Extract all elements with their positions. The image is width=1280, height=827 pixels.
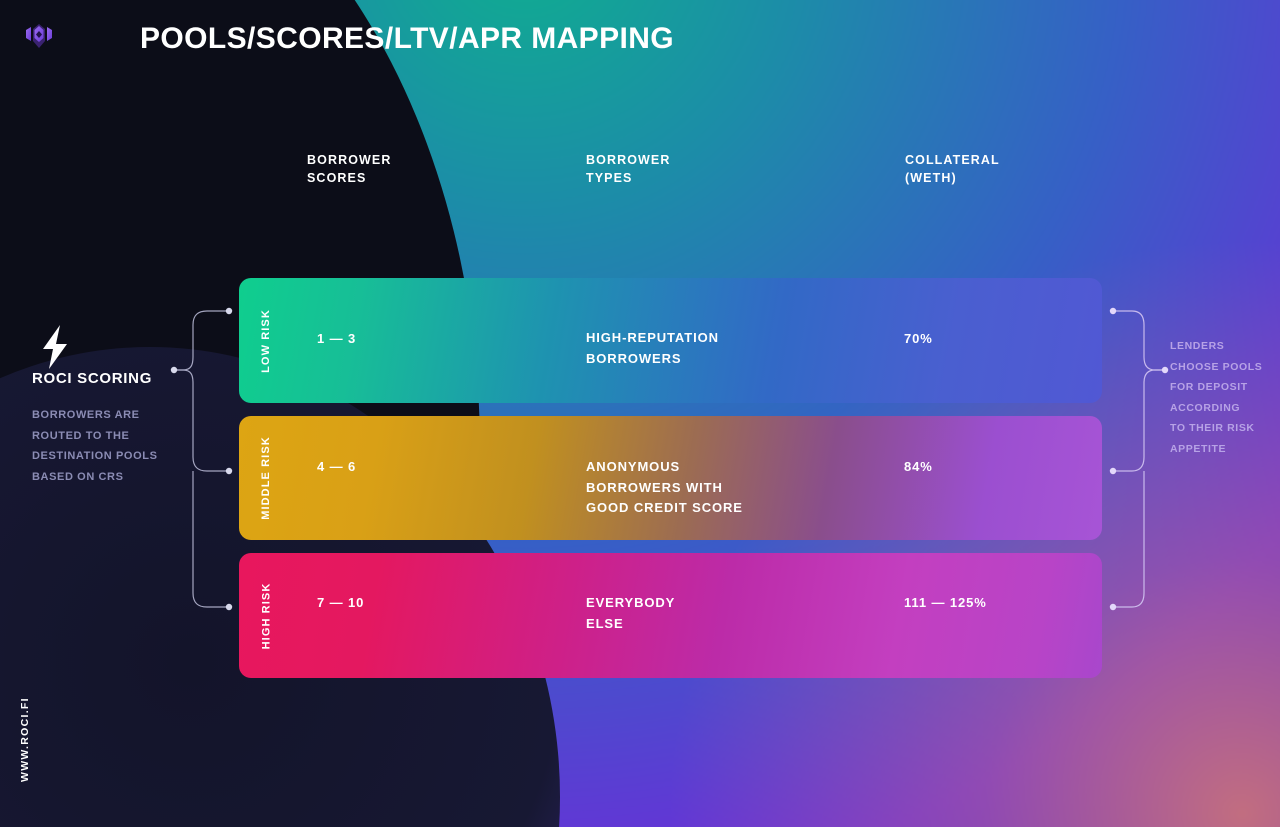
cell-collateral: 84% — [904, 457, 933, 478]
cell-borrower-types: HIGH-REPUTATION BORROWERS — [586, 328, 719, 369]
connector-right-bracket — [1100, 295, 1180, 635]
column-header-collateral: COLLATERAL (WETH) — [905, 151, 1000, 187]
cell-borrower-scores: 4 — 6 — [317, 457, 356, 478]
risk-tier-label-text: LOW RISK — [260, 309, 272, 373]
cell-borrower-scores: 1 — 3 — [317, 329, 356, 350]
lightning-bolt-icon — [40, 325, 70, 369]
roci-scoring-title: ROCI SCORING — [32, 370, 152, 387]
table-row[interactable]: MIDDLE RISK 4 — 6 ANONYMOUS BORROWERS WI… — [239, 416, 1102, 540]
cell-collateral: 70% — [904, 329, 933, 350]
risk-tier-label-text: HIGH RISK — [260, 582, 272, 649]
column-header-borrower-scores: BORROWER SCORES — [307, 151, 392, 187]
cell-borrower-types: ANONYMOUS BORROWERS WITH GOOD CREDIT SCO… — [586, 457, 743, 519]
roci-logo-icon — [22, 22, 56, 58]
cell-collateral: 111 — 125% — [904, 593, 987, 614]
column-header-borrower-types: BORROWER TYPES — [586, 151, 671, 187]
risk-tier-label: HIGH RISK — [253, 553, 279, 678]
cell-borrower-types: EVERYBODY ELSE — [586, 593, 675, 634]
risk-tier-label: LOW RISK — [253, 278, 279, 403]
risk-tier-label-text: MIDDLE RISK — [260, 436, 272, 520]
roci-scoring-description: BORROWERS ARE ROUTED TO THE DESTINATION … — [32, 405, 192, 487]
table-row[interactable]: HIGH RISK 7 — 10 EVERYBODY ELSE 111 — 12… — [239, 553, 1102, 678]
page-title: POOLS/SCORES/LTV/APR MAPPING — [140, 22, 674, 56]
website-watermark: WWW.ROCI.FI — [19, 697, 31, 782]
slide-canvas: POOLS/SCORES/LTV/APR MAPPING BORROWER SC… — [0, 0, 1280, 827]
lenders-description: LENDERS CHOOSE POOLS FOR DEPOSIT ACCORDI… — [1170, 336, 1280, 460]
cell-borrower-scores: 7 — 10 — [317, 593, 364, 614]
risk-tier-label: MIDDLE RISK — [253, 416, 279, 540]
table-row[interactable]: LOW RISK 1 — 3 HIGH-REPUTATION BORROWERS… — [239, 278, 1102, 403]
